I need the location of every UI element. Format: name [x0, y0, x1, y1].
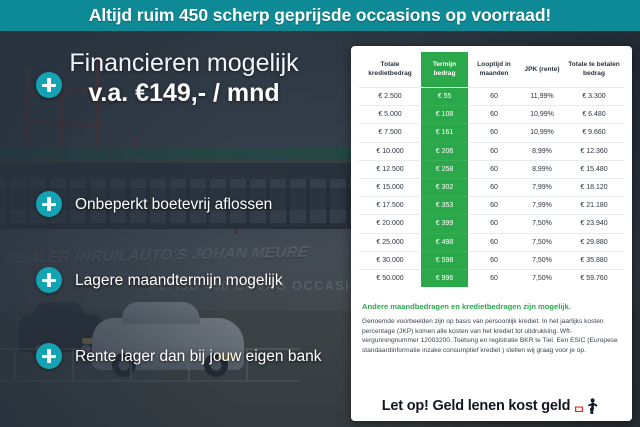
rates-table-body: € 2.500€ 556011,99%€ 3.300€ 5.000€ 10860…	[359, 88, 624, 288]
table-header-row: Totale kredietbedragTermijn bedragLoopti…	[359, 52, 624, 88]
table-cell: € 598	[421, 251, 468, 269]
rates-table: Totale kredietbedragTermijn bedragLoopti…	[359, 52, 624, 287]
table-column-header: Totale te betalen bedrag	[564, 52, 624, 88]
table-cell: € 21.180	[564, 197, 624, 215]
table-cell: € 29.880	[564, 233, 624, 251]
table-cell: 11,99%	[520, 88, 564, 106]
table-row: € 15.000€ 302607,99%€ 18.120	[359, 178, 624, 196]
table-cell: 10,99%	[520, 106, 564, 124]
table-cell: € 302	[421, 178, 468, 196]
disclaimer-body: Genoemde voorbeelden zijn op basis van p…	[362, 317, 621, 355]
table-cell: 60	[468, 178, 520, 196]
table-cell: 60	[468, 160, 520, 178]
table-cell: € 15.000	[359, 178, 421, 196]
table-cell: € 353	[421, 197, 468, 215]
table-cell: 60	[468, 197, 520, 215]
disclaimer-section: Andere maandbedragen en kredietbedragen …	[351, 287, 632, 355]
table-cell: € 6.480	[564, 106, 624, 124]
table-cell: 8,99%	[520, 142, 564, 160]
top-banner: Altijd ruim 450 scherp geprijsde occasio…	[0, 0, 640, 31]
table-cell: € 17.500	[359, 197, 421, 215]
walking-person-warning-icon	[575, 398, 601, 415]
table-row: € 12.500€ 258608,99%€ 15.480	[359, 160, 624, 178]
benefit-item-3: Rente lager dan bij jouw eigen bank	[36, 343, 336, 369]
top-banner-text: Altijd ruim 450 scherp geprijsde occasio…	[89, 5, 551, 26]
table-cell: 10,99%	[520, 124, 564, 142]
table-cell: 60	[468, 88, 520, 106]
credit-warning-bar: Let op! Geld lenen kost geld	[351, 390, 632, 421]
table-cell: € 30.000	[359, 251, 421, 269]
table-cell: € 23.940	[564, 215, 624, 233]
table-row: € 20.000€ 399607,50%€ 23.940	[359, 215, 624, 233]
benefit-label: Lagere maandtermijn mogelijk	[75, 271, 283, 290]
table-cell: € 55	[421, 88, 468, 106]
table-cell: € 399	[421, 215, 468, 233]
table-cell: 60	[468, 269, 520, 287]
table-cell: 7,50%	[520, 251, 564, 269]
table-cell: 7,99%	[520, 178, 564, 196]
table-cell: 7,99%	[520, 197, 564, 215]
table-cell: 7,50%	[520, 215, 564, 233]
credit-warning-text: Let op! Geld lenen kost geld	[382, 398, 571, 414]
table-column-header: Looptijd in maanden	[468, 52, 520, 88]
plus-icon	[36, 343, 62, 369]
benefit-label: Onbeperkt boetevrij aflossen	[75, 195, 272, 214]
left-panel: Financieren mogelijk v.a. €149,- / mnd O…	[0, 31, 345, 427]
table-row: € 5.000€ 1086010,99%€ 6.480	[359, 106, 624, 124]
table-cell: 60	[468, 142, 520, 160]
table-cell: € 12.360	[564, 142, 624, 160]
table-cell: € 5.000	[359, 106, 421, 124]
table-cell: 60	[468, 106, 520, 124]
table-cell: 60	[468, 124, 520, 142]
table-cell: € 12.500	[359, 160, 421, 178]
headline-line-2: v.a. €149,- / mnd	[28, 78, 340, 109]
rates-card-body: Totale kredietbedragTermijn bedragLoopti…	[351, 46, 632, 287]
table-cell: € 25.000	[359, 233, 421, 251]
table-row: € 17.500€ 353607,99%€ 21.180	[359, 197, 624, 215]
table-cell: € 161	[421, 124, 468, 142]
table-cell: € 59.760	[564, 269, 624, 287]
benefit-item-1: Onbeperkt boetevrij aflossen	[36, 191, 336, 217]
table-cell: € 206	[421, 142, 468, 160]
table-cell: € 7.500	[359, 124, 421, 142]
rates-table-head: Totale kredietbedragTermijn bedragLoopti…	[359, 52, 624, 88]
table-cell: € 18.120	[564, 178, 624, 196]
table-cell: € 258	[421, 160, 468, 178]
table-cell: € 20.000	[359, 215, 421, 233]
advertisement-banner: DEALER INRUILAUTO'S JOHAN MEURE ALTIJD 4…	[0, 0, 640, 427]
table-cell: € 50.000	[359, 269, 421, 287]
table-cell: 8,99%	[520, 160, 564, 178]
table-row: € 2.500€ 556011,99%€ 3.300	[359, 88, 624, 106]
table-cell: 7,50%	[520, 233, 564, 251]
headline: Financieren mogelijk v.a. €149,- / mnd	[28, 48, 340, 109]
table-column-header: JPK (rente)	[520, 52, 564, 88]
plus-icon	[36, 267, 62, 293]
table-cell: € 2.500	[359, 88, 421, 106]
table-row: € 30.000€ 598607,50%€ 35.880	[359, 251, 624, 269]
walking-person-warning-svg	[575, 398, 601, 415]
table-row: € 25.000€ 498607,50%€ 29.880	[359, 233, 624, 251]
table-cell: € 108	[421, 106, 468, 124]
table-cell: € 9.660	[564, 124, 624, 142]
table-cell: € 35.880	[564, 251, 624, 269]
benefit-label: Rente lager dan bij jouw eigen bank	[75, 347, 321, 366]
table-column-header: Termijn bedrag	[421, 52, 468, 88]
table-cell: 60	[468, 215, 520, 233]
table-cell: € 996	[421, 269, 468, 287]
plus-icon	[36, 191, 62, 217]
headline-line-1: Financieren mogelijk	[28, 48, 340, 78]
table-cell: € 10.000	[359, 142, 421, 160]
table-row: € 10.000€ 206608,99%€ 12.360	[359, 142, 624, 160]
disclaimer-title: Andere maandbedragen en kredietbedragen …	[362, 301, 621, 312]
table-column-header: Totale kredietbedrag	[359, 52, 421, 88]
table-row: € 7.500€ 1616010,99%€ 9.660	[359, 124, 624, 142]
table-row: € 50.000€ 996607,50%€ 59.760	[359, 269, 624, 287]
table-cell: 7,50%	[520, 269, 564, 287]
table-cell: 60	[468, 251, 520, 269]
table-cell: 60	[468, 233, 520, 251]
rates-card: Totale kredietbedragTermijn bedragLoopti…	[351, 46, 632, 421]
table-cell: € 15.480	[564, 160, 624, 178]
table-cell: € 498	[421, 233, 468, 251]
benefit-item-2: Lagere maandtermijn mogelijk	[36, 267, 336, 293]
table-cell: € 3.300	[564, 88, 624, 106]
